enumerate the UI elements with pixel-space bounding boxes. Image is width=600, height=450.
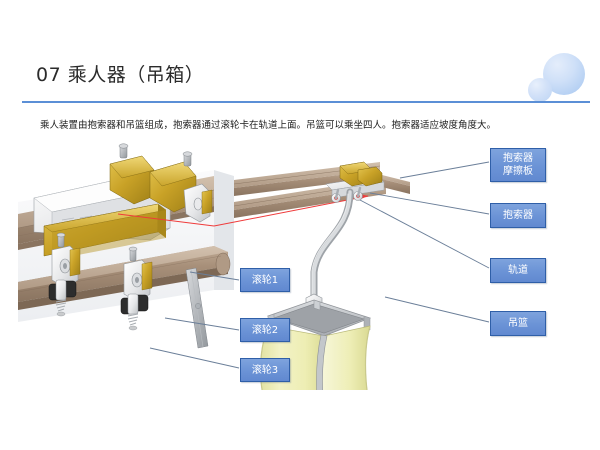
callout-roller-1-label: 滚轮1 xyxy=(252,274,278,287)
callout-track-label: 轨道 xyxy=(508,264,528,277)
callout-friction-plate[interactable]: 抱索器 摩擦板 xyxy=(490,148,546,182)
decorative-circle-small xyxy=(528,78,552,102)
callout-cabin[interactable]: 吊篮 xyxy=(490,311,546,336)
callout-cabin-label: 吊篮 xyxy=(508,317,528,330)
callout-track[interactable]: 轨道 xyxy=(490,258,546,283)
title-divider xyxy=(22,101,590,103)
hanger-arm xyxy=(312,192,350,300)
slide-description: 乘人装置由抱索器和吊篮组成，抱索器通过滚轮卡在轨道上面。吊篮可以乘坐四人。抱索器… xyxy=(40,119,570,133)
callout-roller-3-label: 滚轮3 xyxy=(252,364,278,377)
callout-roller-3[interactable]: 滚轮3 xyxy=(240,358,290,382)
callout-roller-2[interactable]: 滚轮2 xyxy=(240,318,290,342)
callout-roller-2-label: 滚轮2 xyxy=(252,324,278,337)
callout-friction-plate-line1: 抱索器 xyxy=(503,152,533,165)
page-title: 07 乘人器（吊箱） xyxy=(36,60,204,87)
callout-roller-1[interactable]: 滚轮1 xyxy=(240,268,290,292)
gondola-assembly-illustration xyxy=(18,140,488,390)
callout-grip-label: 抱索器 xyxy=(503,209,533,222)
callout-friction-plate-line2: 摩擦板 xyxy=(503,165,533,178)
callout-grip[interactable]: 抱索器 xyxy=(490,203,546,228)
slide-canvas: 07 乘人器（吊箱） 乘人装置由抱索器和吊篮组成，抱索器通过滚轮卡在轨道上面。吊… xyxy=(0,0,600,450)
